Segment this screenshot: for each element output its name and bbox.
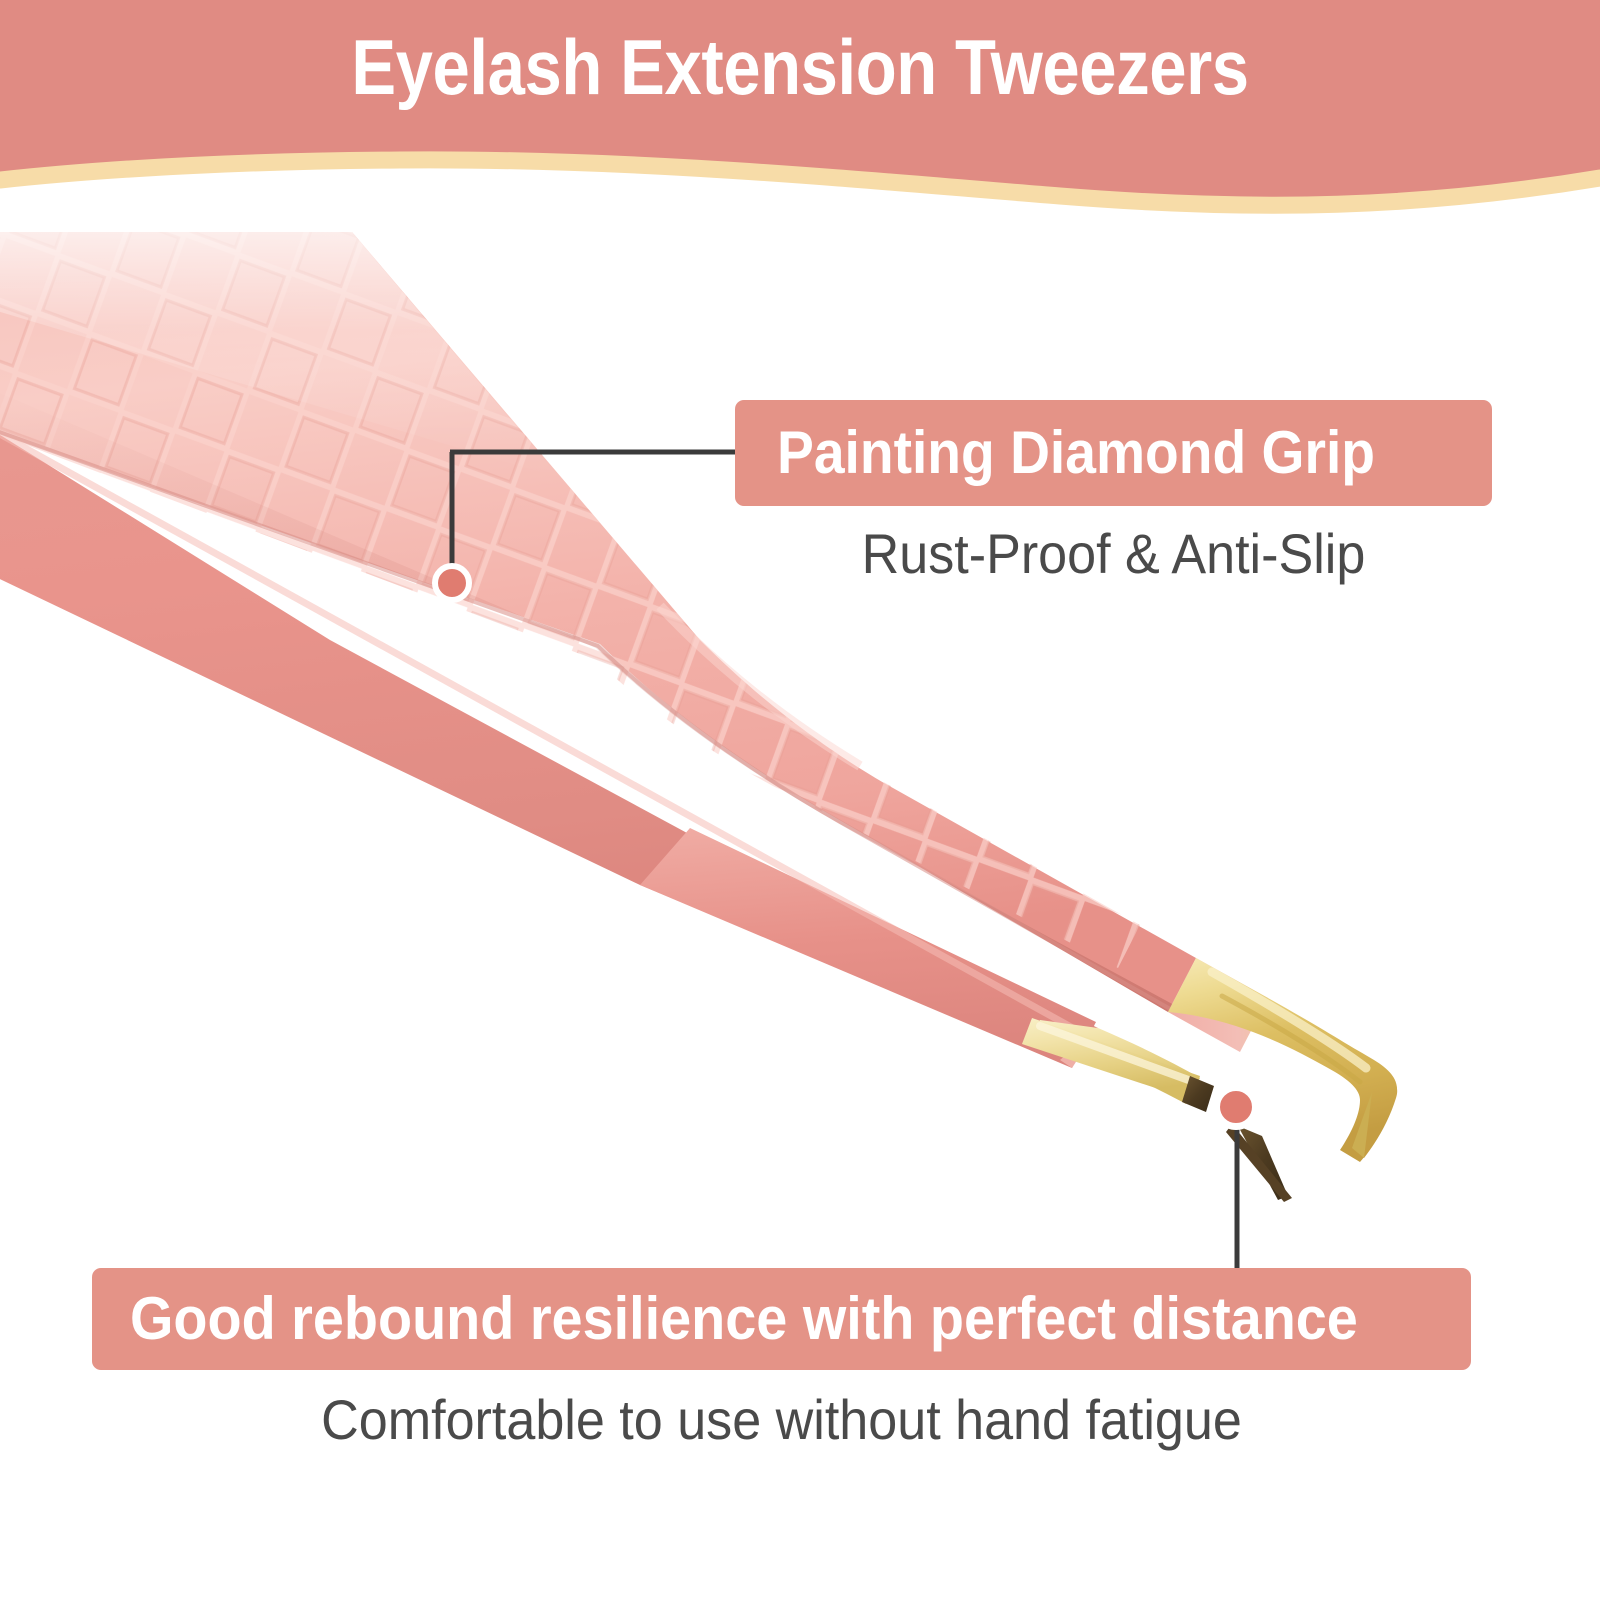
tweezer-upper-gold-tip xyxy=(1168,958,1397,1162)
tip-marker-dot xyxy=(1213,1084,1259,1130)
callout-chip-label: Painting Diamond Grip xyxy=(777,423,1375,483)
grip-marker-dot xyxy=(432,563,472,603)
infographic-canvas: Eyelash Extension Tweezers Painting Diam… xyxy=(0,0,1600,1600)
page-title: Eyelash Extension Tweezers xyxy=(112,28,1488,106)
grip-leader-line xyxy=(440,440,750,600)
rebound-leader-line xyxy=(1231,1126,1245,1276)
callout-chip-label: Good rebound resilience with perfect dis… xyxy=(130,1289,1358,1349)
callout-chip-rebound-resilience: Good rebound resilience with perfect dis… xyxy=(92,1268,1471,1370)
callout-subtitle-rust-proof: Rust-Proof & Anti-Slip xyxy=(761,526,1465,582)
callout-chip-painting-diamond-grip: Painting Diamond Grip xyxy=(735,400,1492,506)
callout-subtitle-comfortable: Comfortable to use without hand fatigue xyxy=(140,1392,1422,1448)
